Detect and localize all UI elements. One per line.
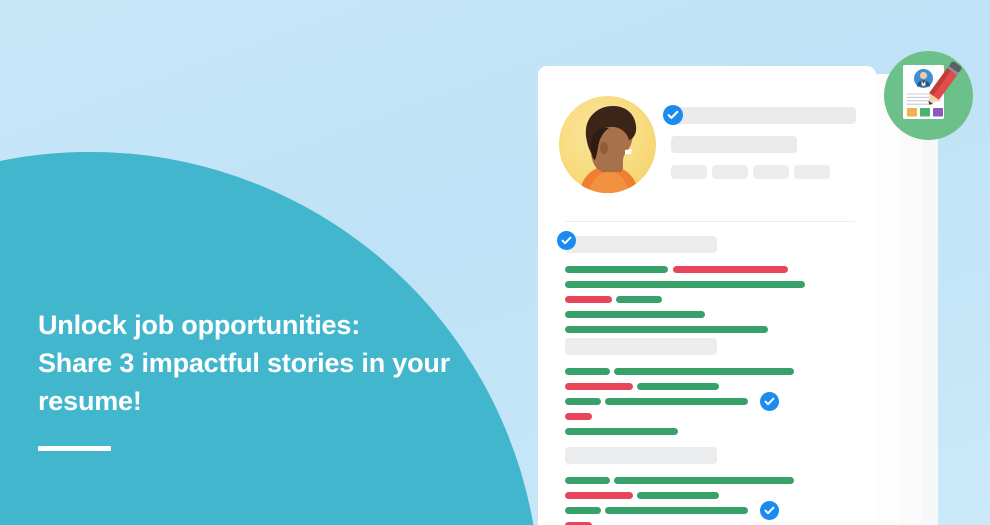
resume-line-good bbox=[565, 266, 668, 273]
detail-chip bbox=[753, 165, 789, 179]
section-title-placeholder bbox=[565, 338, 717, 355]
resume-line-good bbox=[605, 507, 748, 514]
verified-check-icon-section bbox=[760, 501, 779, 520]
resume-line-good bbox=[565, 507, 601, 514]
resume-line-flagged bbox=[565, 413, 592, 420]
headline-line-1: Unlock job opportunities: bbox=[38, 306, 508, 344]
detail-chip bbox=[712, 165, 748, 179]
resume-line-good bbox=[616, 296, 662, 303]
name-placeholder-bar bbox=[671, 107, 856, 124]
detail-chip bbox=[794, 165, 830, 179]
resume-line-flagged bbox=[565, 492, 633, 499]
resume-line-good bbox=[614, 368, 794, 375]
user-avatar bbox=[559, 96, 656, 193]
resume-card-header bbox=[538, 66, 876, 221]
section-title-placeholder bbox=[565, 447, 717, 464]
resume-line-good bbox=[565, 398, 601, 405]
verified-check-icon-section bbox=[557, 231, 576, 250]
resume-edit-badge bbox=[884, 51, 973, 140]
resume-line-good bbox=[614, 477, 794, 484]
resume-document-card bbox=[538, 66, 876, 525]
promo-banner: Unlock job opportunities: Share 3 impact… bbox=[0, 0, 990, 525]
headline-placeholder-bar bbox=[671, 136, 797, 153]
resume-line-good bbox=[565, 281, 805, 288]
headline-line-2: Share 3 impactful stories in your bbox=[38, 344, 508, 382]
resume-line-good bbox=[565, 477, 610, 484]
resume-line-flagged bbox=[673, 266, 788, 273]
verified-check-icon-section bbox=[760, 392, 779, 411]
resume-line-good bbox=[565, 368, 610, 375]
resume-line-good bbox=[565, 311, 705, 318]
headline-underline bbox=[38, 446, 111, 451]
resume-line-flagged bbox=[565, 383, 633, 390]
detail-chip bbox=[671, 165, 707, 179]
page-title: Unlock job opportunities: Share 3 impact… bbox=[38, 306, 508, 420]
verified-check-icon-header bbox=[663, 105, 683, 125]
resume-line-good bbox=[565, 428, 678, 435]
resume-line-good bbox=[637, 492, 719, 499]
resume-line-good bbox=[637, 383, 719, 390]
resume-line-good bbox=[605, 398, 748, 405]
header-divider bbox=[565, 221, 855, 222]
resume-line-good bbox=[565, 326, 768, 333]
headline-line-3: resume! bbox=[38, 382, 508, 420]
headline-block: Unlock job opportunities: Share 3 impact… bbox=[38, 306, 508, 451]
resume-line-flagged bbox=[565, 296, 612, 303]
section-title-placeholder bbox=[565, 236, 717, 253]
